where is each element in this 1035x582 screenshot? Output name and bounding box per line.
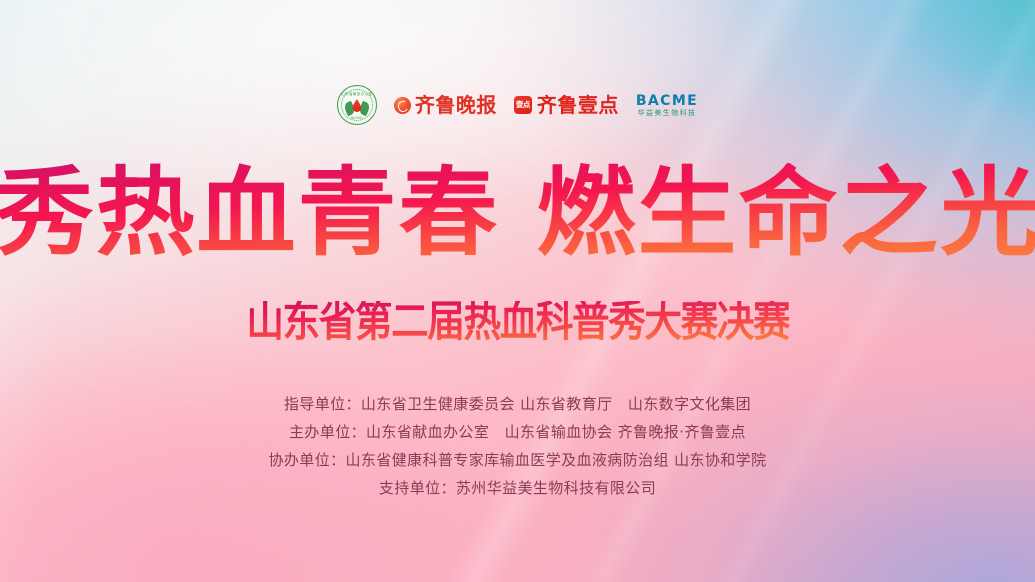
subtitle-container: 山东省第二届热血科普秀大赛决赛	[0, 302, 1035, 342]
headline-part-1: 秀热血青春	[0, 157, 499, 269]
credits-block: 指导单位：山东省卫生健康委员会 山东省教育厅 山东数字文化集团 主办单位：山东省…	[0, 390, 1035, 502]
credit-line-coorganizer: 协办单位：山东省健康科普专家库输血医学及血液病防治组 山东协和学院	[0, 446, 1035, 474]
page-title: 秀热血青春燃生命之光	[0, 163, 1035, 264]
logo-qilu-yidian: 壹点 齐鲁壹点	[514, 95, 619, 115]
credit-line-supporter: 支持单位：苏州华益美生物科技有限公司	[0, 474, 1035, 502]
logo-bacme: BACME 华益美生物科技	[636, 94, 698, 117]
flame-drop-icon	[352, 99, 361, 112]
poster-canvas: 山东省献血办公室 BLOOD 齐鲁晚报 壹点 齐鲁壹点 BACME 华益美生物科…	[0, 0, 1035, 582]
emblem-arc-top-label: 山东省献血办公室	[341, 91, 372, 96]
credit-line-organizer: 主办单位：山东省献血办公室 山东省输血协会 齐鲁晚报·齐鲁壹点	[0, 418, 1035, 446]
qilu-evening-news-label: 齐鲁晚报	[415, 95, 497, 115]
bacme-wordmark-label: BACME	[636, 94, 698, 108]
logo-qilu-evening-news: 齐鲁晚报	[394, 95, 497, 115]
qilu-yidian-label: 齐鲁壹点	[537, 95, 619, 115]
circular-emblem-icon: 山东省献血办公室 BLOOD	[337, 85, 377, 125]
logo-bar: 山东省献血办公室 BLOOD 齐鲁晚报 壹点 齐鲁壹点 BACME 华益美生物科…	[0, 84, 1035, 126]
logo-shandong-blood-emblem: 山东省献血办公室 BLOOD	[337, 85, 377, 125]
headline-part-2: 燃生命之光	[536, 157, 1035, 269]
credit-line-guidance: 指导单位：山东省卫生健康委员会 山东省教育厅 山东数字文化集团	[0, 390, 1035, 418]
qilu-yidian-badge-icon: 壹点	[514, 96, 532, 114]
qilu-wanbao-swirl-icon	[394, 97, 411, 114]
headline-container: 秀热血青春燃生命之光	[0, 163, 1035, 264]
page-subtitle: 山东省第二届热血科普秀大赛决赛	[246, 301, 789, 343]
emblem-arc-bottom-label: BLOOD	[351, 116, 362, 120]
bacme-subtitle-label: 华益美生物科技	[638, 110, 697, 117]
